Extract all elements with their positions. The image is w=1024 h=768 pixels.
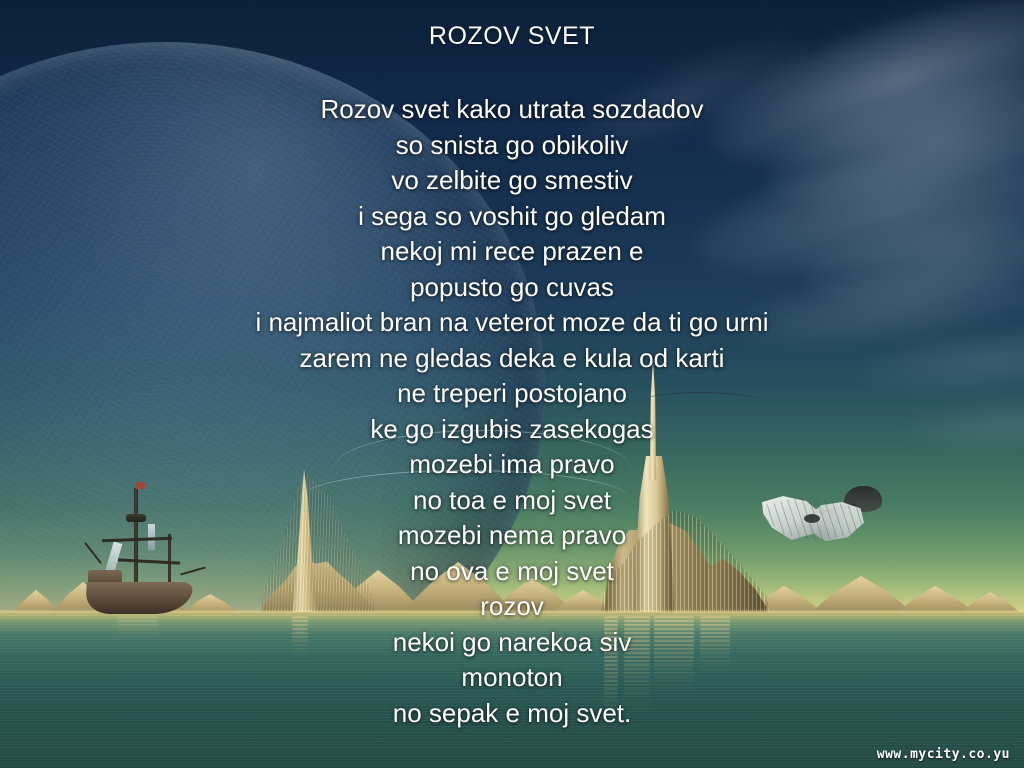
- scene-canvas: ROZOV SVET Rozov svet kako utrata sozdad…: [0, 0, 1024, 768]
- poem-line: no ova e moj svet: [0, 554, 1024, 590]
- poem-line: i najmaliot bran na veterot moze da ti g…: [0, 305, 1024, 341]
- text-overlay: ROZOV SVET Rozov svet kako utrata sozdad…: [0, 0, 1024, 768]
- poem-line: ne treperi postojano: [0, 376, 1024, 412]
- poem-line: popusto go cuvas: [0, 270, 1024, 306]
- poem-body: Rozov svet kako utrata sozdadovso snista…: [0, 92, 1024, 731]
- poem-line: mozebi nema pravo: [0, 518, 1024, 554]
- poem-line: i sega so voshit go gledam: [0, 199, 1024, 235]
- poem-line: so snista go obikoliv: [0, 128, 1024, 164]
- poem-line: nekoj mi rece prazen e: [0, 234, 1024, 270]
- poem-line: nekoi go narekoa siv: [0, 625, 1024, 661]
- site-watermark: www.mycity.co.yu: [877, 747, 1010, 762]
- poem-line: monoton: [0, 660, 1024, 696]
- poem-line: vo zelbite go smestiv: [0, 163, 1024, 199]
- poem-line: rozov: [0, 589, 1024, 625]
- poem-line: zarem ne gledas deka e kula od karti: [0, 341, 1024, 377]
- poem-line: no toa e moj svet: [0, 483, 1024, 519]
- poem-line: ke go izgubis zasekogas: [0, 412, 1024, 448]
- poem-line: mozebi ima pravo: [0, 447, 1024, 483]
- page-title: ROZOV SVET: [0, 22, 1024, 51]
- poem-line: no sepak e moj svet.: [0, 696, 1024, 732]
- poem-line: Rozov svet kako utrata sozdadov: [0, 92, 1024, 128]
